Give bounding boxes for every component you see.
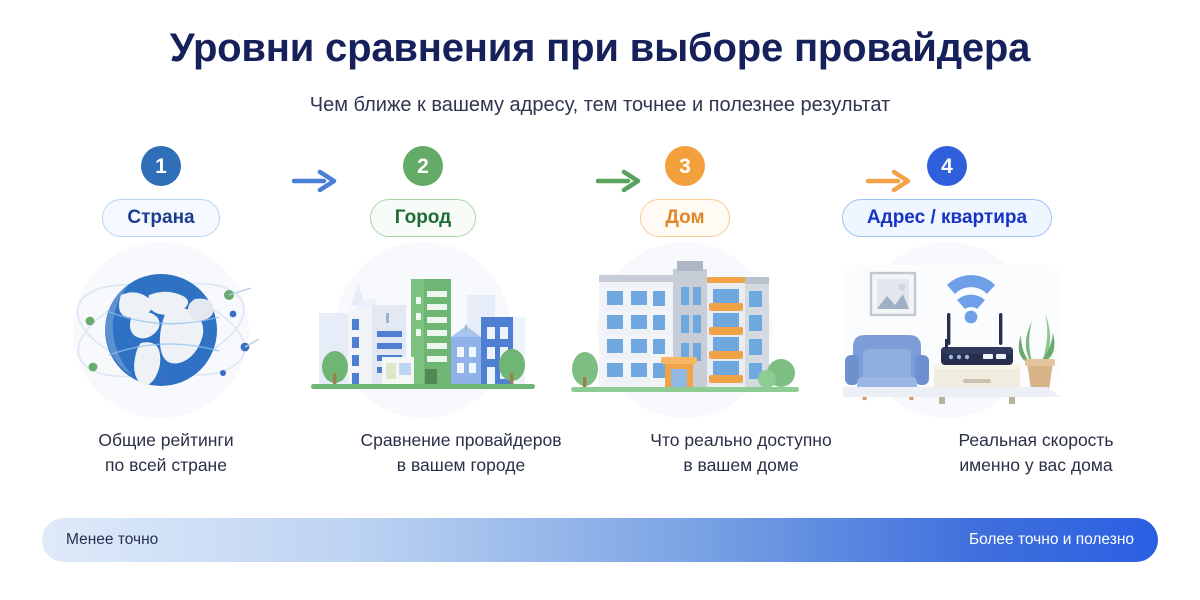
arrow-right-icon [294,172,334,190]
caption-line: Сравнение провайдеров [330,428,592,453]
arrow-country-to-city [292,168,338,194]
illustration-room [823,251,1071,409]
caption-building: Что реально доступно в вашем доме [610,428,872,479]
caption-line: по всей стране [35,453,297,478]
arrow-building-to-address [866,168,912,194]
caption-line: именно у вас дома [905,453,1167,478]
arrow-right-icon [868,172,908,190]
page-title: Уровни сравнения при выборе провайдера [0,26,1200,71]
infographic-page: Уровни сравнения при выборе провайдера Ч… [0,0,1200,600]
page-subtitle: Чем ближе к вашему адресу, тем точнее и … [0,94,1200,117]
living-room-router-icon [843,265,1061,404]
step-address: 4 Адрес / квартира [816,146,1078,409]
caption-country: Общие рейтинги по всей стране [35,428,297,479]
arrow-city-to-building [596,168,642,194]
scale-right-label: Более точно и полезно [969,531,1134,549]
caption-line: в вашем доме [610,453,872,478]
caption-city: Сравнение провайдеров в вашем городе [330,428,592,479]
step-building: 3 Дом [554,146,816,409]
scale-left-label: Менее точно [66,531,158,549]
step-pill-address: Адрес / квартира [842,199,1052,237]
caption-line: Реальная скорость [905,428,1167,453]
caption-line: Что реально доступно [610,428,872,453]
step-badge-4: 4 [927,146,967,186]
step-pill-country: Страна [102,199,219,237]
precision-scale-bar: Менее точно Более точно и полезно [42,518,1158,562]
step-pill-city: Город [370,199,476,237]
step-badge-2: 2 [403,146,443,186]
step-badge-3: 3 [665,146,705,186]
city-skyline-icon [311,279,535,389]
step-country: 1 Страна [30,146,292,409]
apartment-building-icon [571,261,799,392]
arrow-right-icon [598,172,638,190]
caption-line: Общие рейтинги [35,428,297,453]
caption-line: в вашем городе [330,453,592,478]
globe-icon [67,265,259,394]
step-pill-building: Дом [640,199,729,237]
caption-address: Реальная скорость именно у вас дома [905,428,1167,479]
step-badge-1: 1 [141,146,181,186]
illustration-globe [37,251,285,409]
illustration-city [299,251,547,409]
illustration-apartment [561,251,809,409]
